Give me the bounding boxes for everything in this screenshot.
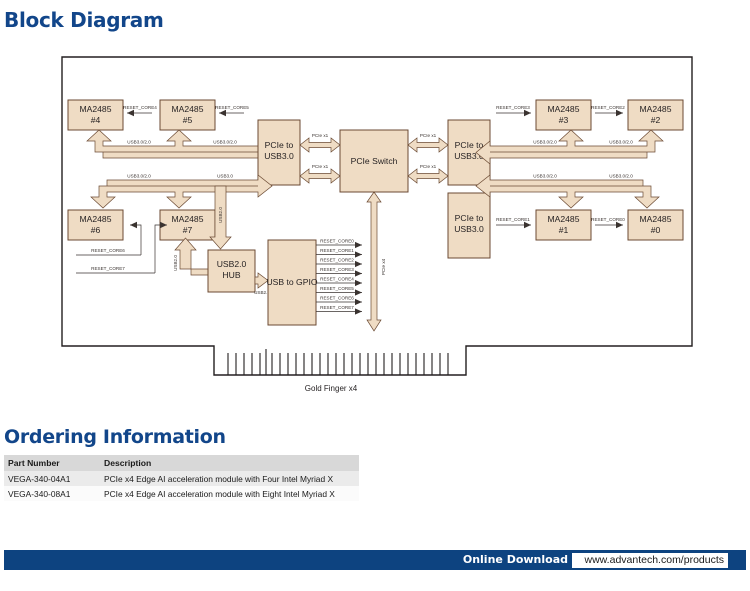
signal-pcie-x1-c: PCIe x1 <box>420 133 437 138</box>
signal-reset-core6-out: RESET_CORE6 <box>320 296 354 301</box>
signal-reset-core5-out: RESET_CORE5 <box>320 286 354 291</box>
signal-reset-core5: RESET_CORE5 <box>215 105 249 110</box>
reset-line-core4 <box>127 110 152 116</box>
block-diagram-figure: .blk{fill:#EFDCC4;stroke:#6B4A33;stroke-… <box>0 45 750 405</box>
signal-reset-core3-line: RESET_CORE3 <box>496 105 530 110</box>
signal-reset-core1: RESET_CORE1 <box>320 248 354 253</box>
signal-usb3-20-c: USB3.0/2.0 <box>127 174 151 179</box>
ordering-information-table: Part Number Description VEGA-340-04A1 PC… <box>4 455 359 501</box>
bus-top-right <box>476 130 663 164</box>
bus-pcie-x1-top-right <box>408 138 448 152</box>
signal-pcie-x1-b: PCIe x1 <box>312 164 329 169</box>
block-ma2485-0-line1: MA2485 <box>639 214 671 224</box>
bus-hub-to-ma7 <box>175 238 208 275</box>
block-pcie-usb-tl-line2: USB3.0 <box>264 151 294 161</box>
column-header-part-number: Part Number <box>4 455 100 471</box>
signal-usb3-20-e: USB3.0/2.0 <box>609 140 633 145</box>
signal-reset-core1-line: RESET_CORE1 <box>496 217 530 222</box>
datasheet-page: Block Diagram .blk{fill:#EFDCC4;stroke:#… <box>0 0 750 591</box>
signal-reset-core4-out: RESET_CORE4 <box>320 277 354 282</box>
footer-url-link[interactable]: www.advantech.com/products <box>585 554 724 566</box>
block-ma2485-4-line1: MA2485 <box>79 104 111 114</box>
block-ma2485-1-line2: #1 <box>559 225 569 235</box>
reset-line-core0 <box>595 222 623 228</box>
bus-pcie-x1-bottom-right <box>408 169 448 183</box>
signal-usb3-20-d: USB3.0/2.0 <box>533 140 557 145</box>
block-pcie-switch-label: PCIe Switch <box>351 156 398 166</box>
signal-usb2-0-a: USB2.0 <box>218 207 223 223</box>
bus-pcie-x1-bottom-left <box>300 169 340 183</box>
block-ma2485-7-line2: #7 <box>183 225 193 235</box>
signal-reset-core7: RESET_CORE7 <box>91 266 125 271</box>
block-ma2485-7-line1: MA2485 <box>171 214 203 224</box>
block-usb-gpio-line1: USB to GPIO <box>266 277 317 287</box>
block-ma2485-3-line1: MA2485 <box>547 104 579 114</box>
block-ma2485-2-line2: #2 <box>651 115 661 125</box>
table-header-row: Part Number Description <box>4 455 359 471</box>
block-ma2485-2-line1: MA2485 <box>639 104 671 114</box>
online-download-label: Online Download <box>463 553 568 566</box>
block-ma2485-6-line2: #6 <box>91 225 101 235</box>
column-header-description: Description <box>100 455 359 471</box>
block-ma2485-1-line1: MA2485 <box>547 214 579 224</box>
gold-finger-caption: Gold Finger x4 <box>305 384 358 393</box>
block-pcie-usb-tr-line1: PCIe to <box>455 140 484 150</box>
block-ma2485-4-line2: #4 <box>91 115 101 125</box>
signal-reset-core7-out: RESET_CORE7 <box>320 305 354 310</box>
reset-line-core2 <box>595 110 623 116</box>
block-pcie-usb-tl-line1: PCIe to <box>265 140 294 150</box>
bus-top-left <box>87 130 272 164</box>
block-usb-hub-line2: HUB <box>222 270 240 280</box>
signal-reset-core2-line: RESET_CORE2 <box>591 105 625 110</box>
reset-outputs-group: RESET_CORE0 RESET_CORE1 RESET_CORE2 RESE… <box>316 239 362 315</box>
cell-part-number: VEGA-340-04A1 <box>4 471 100 486</box>
cell-description: PCIe x4 Edge AI acceleration module with… <box>100 486 359 501</box>
signal-usb2-0-b: USB2.0 <box>173 255 178 271</box>
signal-pcie-x1-d: PCIe x1 <box>420 164 437 169</box>
signal-reset-core0: RESET_CORE0 <box>320 239 354 244</box>
cell-part-number: VEGA-340-08A1 <box>4 486 100 501</box>
block-ma2485-0-line2: #0 <box>651 225 661 235</box>
table-row: VEGA-340-04A1 PCIe x4 Edge AI accelerati… <box>4 471 359 486</box>
signal-reset-core6: RESET_CORE6 <box>91 248 125 253</box>
signal-usb3-20-f: USB3.0/2.0 <box>533 174 557 179</box>
signal-reset-core0-line: RESET_CORE0 <box>591 217 625 222</box>
bus-pcie-x1-top-left <box>300 138 340 152</box>
reset-line-core1 <box>496 222 531 228</box>
signal-pcie-x4: PCIe x4 <box>381 258 386 275</box>
signal-usb3-20-a: USB3.0/2.0 <box>127 140 151 145</box>
block-ma2485-5-line1: MA2485 <box>171 104 203 114</box>
signal-usb3-0-a: USB3.0 <box>217 174 233 179</box>
reset-line-core3 <box>496 110 531 116</box>
signal-usb3-20-g: USB3.0/2.0 <box>609 174 633 179</box>
bus-pcie-x4 <box>367 192 381 331</box>
gold-finger-contacts <box>228 349 448 375</box>
block-pcie-usb-br-line1: PCIe to <box>455 213 484 223</box>
bus-bottom-right <box>476 175 659 208</box>
signal-reset-core3: RESET_CORE3 <box>320 267 354 272</box>
block-ma2485-5-line2: #5 <box>183 115 193 125</box>
block-pcie-usb-br-line2: USB3.0 <box>454 224 484 234</box>
cell-description: PCIe x4 Edge AI acceleration module with… <box>100 471 359 486</box>
block-ma2485-6-line1: MA2485 <box>79 214 111 224</box>
block-usb-hub-line1: USB2.0 <box>217 259 247 269</box>
page-title-ordering-information: Ordering Information <box>4 426 226 448</box>
table-row: VEGA-340-08A1 PCIe x4 Edge AI accelerati… <box>4 486 359 501</box>
page-title-block-diagram: Block Diagram <box>4 8 164 32</box>
signal-reset-core2: RESET_CORE2 <box>320 258 354 263</box>
bus-bottom-left <box>91 175 272 208</box>
block-ma2485-3-line2: #3 <box>559 115 569 125</box>
signal-usb3-20-b: USB3.0/2.0 <box>213 140 237 145</box>
signal-reset-core4: RESET_CORE4 <box>123 105 157 110</box>
reset-line-core5 <box>219 110 244 116</box>
signal-pcie-x1-a: PCIe x1 <box>312 133 329 138</box>
